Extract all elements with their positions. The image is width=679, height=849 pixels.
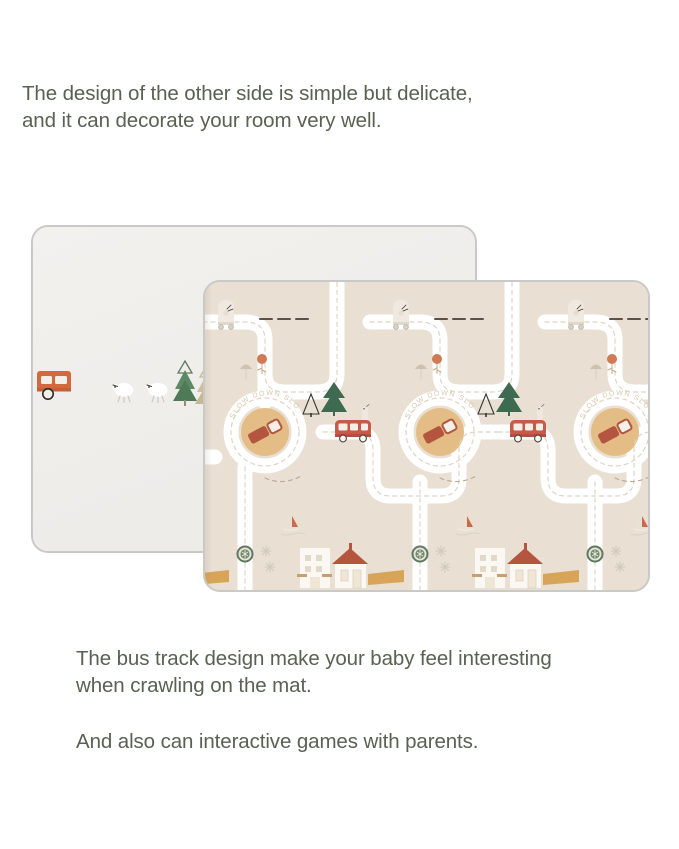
sparkle-icon: [611, 546, 621, 556]
mushroom-icon: [590, 365, 602, 380]
house-group-icon: [472, 543, 579, 588]
product-illustration: SLOW DOWN SLOW SLOW DOWN SLOW SLOW DOWN …: [0, 215, 679, 605]
tree-marker-icon: [588, 547, 603, 562]
house-group-icon: [205, 543, 229, 588]
svg-text:SLOW DOWN SLOW: SLOW DOWN SLOW: [205, 282, 301, 420]
tree-marker-icon: [238, 547, 253, 562]
sailboat-icon: [456, 514, 480, 535]
sparkle-icon: [615, 562, 625, 572]
mushroom-icon: [415, 365, 427, 380]
sheep-icon: [109, 379, 139, 403]
features-paragraph: The bus track design make your baby feel…: [76, 645, 676, 755]
sailboat-icon: [631, 514, 648, 535]
intro-line-1: The design of the other side is simple b…: [22, 80, 642, 107]
sparkle-icon: [261, 546, 271, 556]
sailboat-icon: [281, 514, 305, 535]
sparkle-icon: [440, 562, 450, 572]
feature-line-2: when crawling on the mat.: [76, 672, 676, 699]
intro-line-2: and it can decorate your room very well.: [22, 107, 642, 134]
mushroom-icon: [240, 365, 252, 380]
sparkle-icon: [265, 562, 275, 572]
house-group-icon: [297, 543, 404, 588]
sparkle-icon: [436, 546, 446, 556]
intro-paragraph: The design of the other side is simple b…: [22, 80, 642, 134]
tree-marker-icon: [413, 547, 428, 562]
baby-cart-icon: [393, 300, 409, 329]
baby-cart-icon: [218, 300, 234, 329]
orange-bus-icon: [37, 367, 79, 401]
baby-cart-icon: [568, 300, 584, 329]
feature-line-1: The bus track design make your baby feel…: [76, 645, 676, 672]
road-track-pattern: SLOW DOWN SLOW SLOW DOWN SLOW SLOW DOWN …: [205, 282, 648, 590]
front-mat: SLOW DOWN SLOW SLOW DOWN SLOW SLOW DOWN …: [203, 280, 650, 592]
feature-line-3: And also can interactive games with pare…: [76, 728, 676, 755]
paragraph-spacer: [76, 699, 676, 728]
